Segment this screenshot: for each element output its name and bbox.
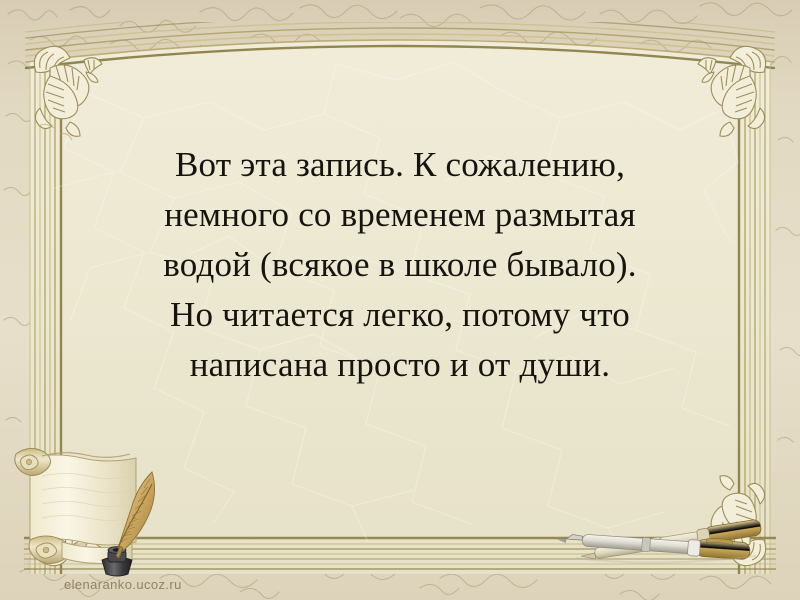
body-line-1: Вот эта запись. К сожалению, (60, 140, 740, 190)
body-line-2: немного со временем размытая (60, 190, 740, 240)
body-line-5: написана просто и от души. (60, 340, 740, 390)
watermark-text: elenaranko.ucoz.ru (64, 577, 182, 592)
slide-canvas: Вот эта запись. К сожалению, немного со … (0, 0, 800, 600)
body-line-3: водой (всякое в школе бывало). (60, 240, 740, 290)
body-line-4: Но читается легко, потому что (60, 290, 740, 340)
slide-body-text: Вот эта запись. К сожалению, немного со … (60, 140, 740, 390)
